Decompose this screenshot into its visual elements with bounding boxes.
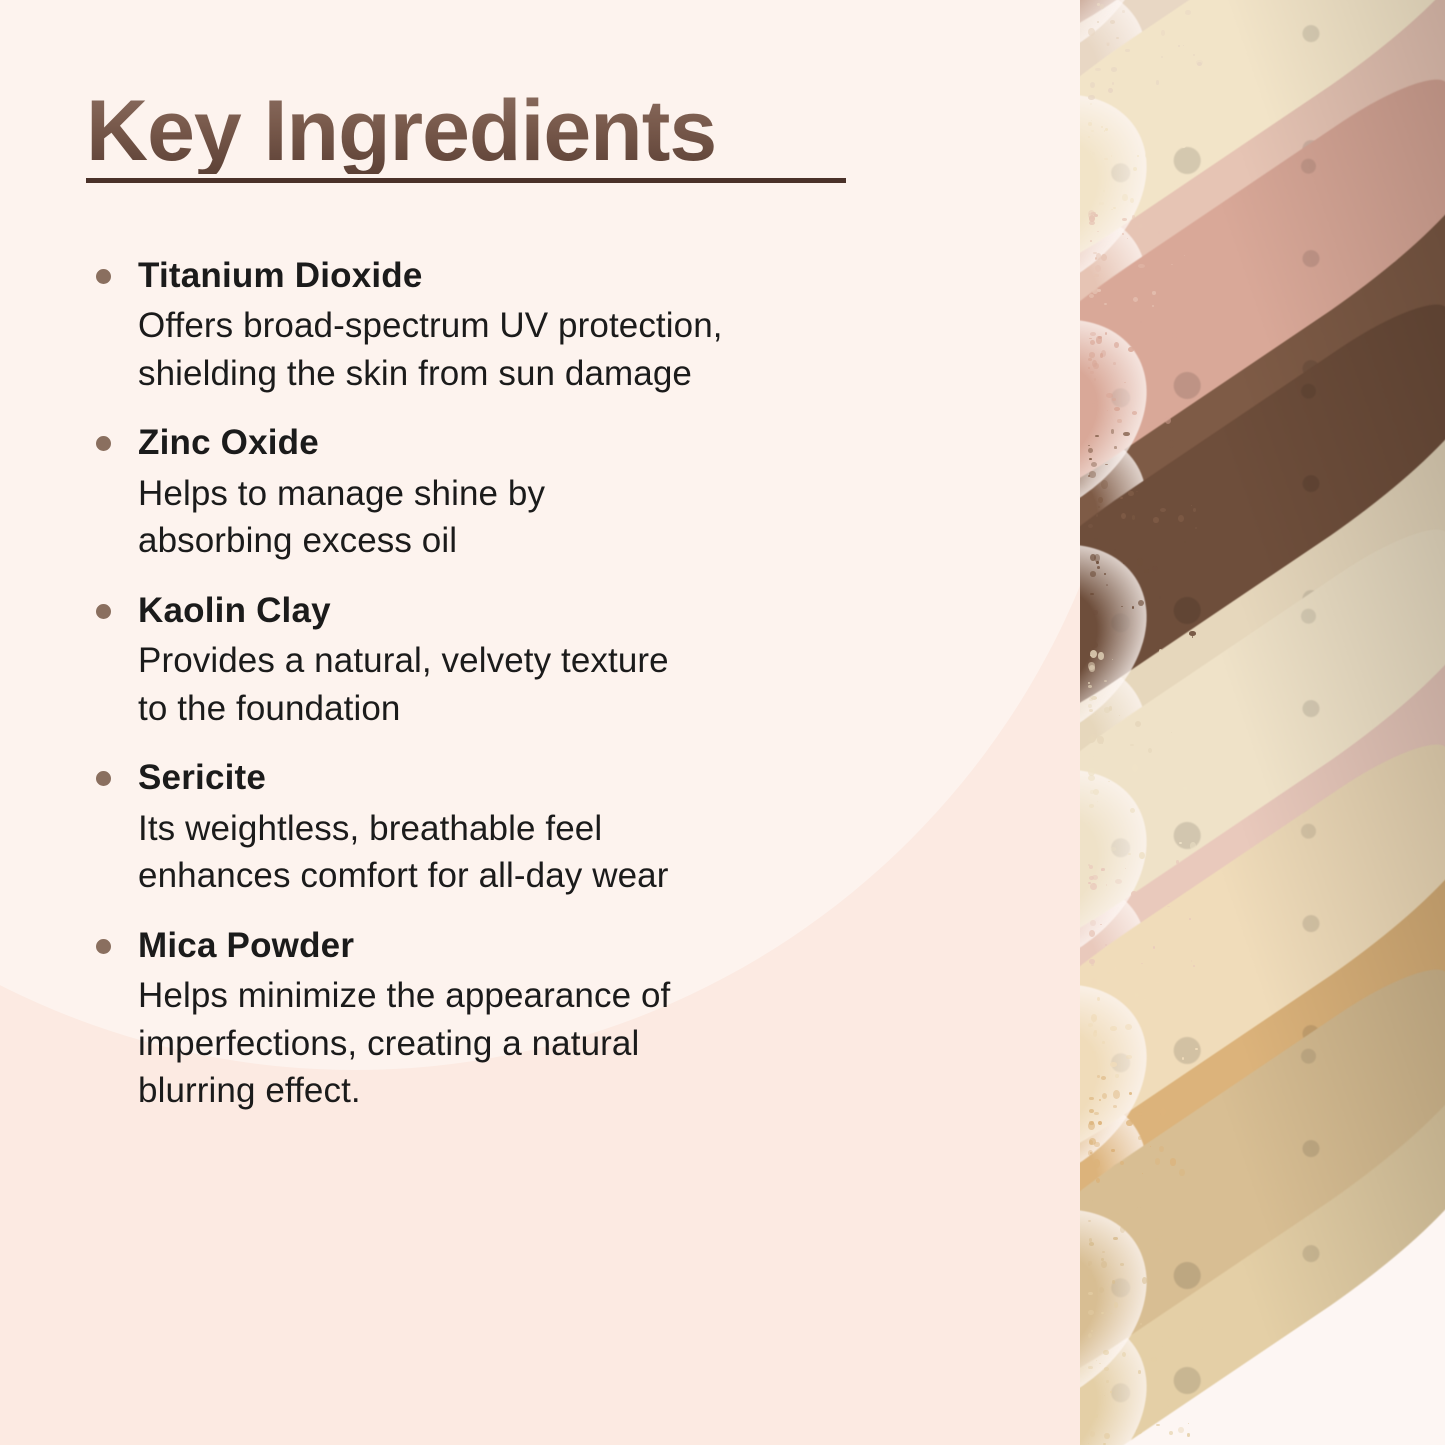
powder-crumb <box>1114 549 1116 550</box>
powder-crumb <box>1090 571 1096 576</box>
powder-crumb <box>1121 513 1126 519</box>
powder-crumb <box>1156 1424 1160 1427</box>
powder-crumb <box>1184 659 1189 662</box>
powder-crumb <box>1090 82 1095 88</box>
powder-crumb <box>1169 1431 1173 1435</box>
powder-crumb <box>1094 318 1096 320</box>
powder-crumb <box>1090 1431 1095 1437</box>
powder-crumb <box>1164 1313 1168 1316</box>
powder-crumb <box>1171 1006 1174 1010</box>
powder-crumb <box>1097 171 1099 172</box>
powder-crumb <box>1091 642 1098 648</box>
bullet-icon <box>96 771 111 786</box>
powder-crumb <box>1101 1258 1104 1261</box>
powder-crumb <box>1089 698 1094 701</box>
powder-crumb <box>1091 963 1093 966</box>
ingredient-description: Provides a natural, velvety texture to t… <box>138 637 1038 732</box>
powder-crumb <box>1170 1158 1177 1165</box>
powder-crumb <box>1170 1042 1173 1046</box>
powder-crumb <box>1172 332 1177 338</box>
powder-crumb <box>1126 1055 1131 1058</box>
powder-crumb <box>1189 631 1196 635</box>
powder-crumb <box>1128 491 1133 497</box>
powder-crumb <box>1154 1365 1156 1367</box>
powder-crumb <box>1088 1261 1092 1265</box>
powder-crumb <box>1193 965 1195 967</box>
powder-crumb <box>1132 411 1138 415</box>
ingredient-item: Zinc OxideHelps to manage shine by absor… <box>88 419 1038 564</box>
powder-crumb <box>1104 303 1106 305</box>
powder-crumb <box>1110 1062 1117 1067</box>
powder-crumb <box>1089 1238 1092 1242</box>
powder-crumb <box>1093 1022 1094 1023</box>
powder-crumb <box>1193 508 1196 512</box>
powder-crumb <box>1114 1302 1118 1307</box>
ingredient-description: Offers broad-spectrum UV protection, shi… <box>138 302 1038 397</box>
powder-crumb <box>1099 1363 1101 1364</box>
powder-crumb <box>1117 419 1122 424</box>
powder-crumb <box>1111 1149 1114 1152</box>
powder-crumb <box>1096 514 1098 517</box>
powder-crumb <box>1090 510 1093 514</box>
powder-crumb <box>1148 149 1152 151</box>
powder-crumb <box>1088 1023 1093 1027</box>
ingredient-name: Zinc Oxide <box>138 419 1038 467</box>
content-column: Key Ingredients Titanium DioxideOffers b… <box>0 0 1090 1445</box>
powder-crumb <box>1125 49 1129 52</box>
powder-crumb <box>1104 707 1110 713</box>
powder-crumb <box>1182 1396 1188 1401</box>
powder-crumb <box>1140 1323 1142 1325</box>
powder-crumb <box>1195 527 1197 529</box>
powder-crumb <box>1113 1105 1117 1108</box>
powder-crumb <box>1165 184 1170 187</box>
powder-crumb <box>1088 1443 1089 1444</box>
powder-crumb <box>1095 257 1097 260</box>
powder-crumb <box>1151 1357 1157 1362</box>
bullet-icon <box>96 269 111 284</box>
powder-crumb <box>1101 126 1103 128</box>
powder-crumb <box>1106 884 1108 886</box>
powder-crumb <box>1090 240 1092 242</box>
ingredient-name: Kaolin Clay <box>138 587 1038 635</box>
powder-crumb <box>1104 1367 1110 1371</box>
powder-crumb <box>1156 981 1159 984</box>
powder-crumb <box>1090 593 1093 595</box>
powder-crumb <box>1192 794 1198 801</box>
powder-crumb <box>1139 852 1145 859</box>
powder-crumb <box>1158 231 1160 233</box>
powder-crumb <box>1149 1324 1153 1327</box>
powder-crumb <box>1095 68 1101 71</box>
powder-crumb <box>1089 221 1095 225</box>
powder-crumb <box>1090 971 1093 975</box>
powder-crumb <box>1111 429 1114 433</box>
powder-crumb <box>1196 1322 1200 1327</box>
powder-crumb <box>1097 566 1100 569</box>
ingredient-item: SericiteIts weightless, breathable feel … <box>88 754 1038 899</box>
powder-crumb <box>1101 1312 1104 1314</box>
powder-crumb <box>1088 685 1092 688</box>
powder-crumb <box>1167 1399 1174 1407</box>
ingredient-name: Mica Powder <box>138 922 1038 970</box>
ingredient-description: Helps to manage shine by absorbing exces… <box>138 470 1038 565</box>
ingredient-description: Its weightless, breathable feel enhances… <box>138 805 1038 900</box>
powder-crumb <box>1090 883 1097 890</box>
powder-crumb <box>1156 172 1158 174</box>
powder-crumb <box>1112 82 1115 85</box>
powder-crumb <box>1091 1014 1097 1022</box>
powder-crumb <box>1131 891 1136 897</box>
powder-crumb <box>1111 847 1116 850</box>
powder-crumb <box>1165 417 1171 424</box>
powder-crumb <box>1089 1121 1093 1125</box>
powder-crumb <box>1101 1076 1106 1080</box>
powder-crumb <box>1186 1236 1189 1240</box>
powder-crumb <box>1105 539 1110 544</box>
powder-crumb <box>1088 448 1093 453</box>
powder-crumb <box>1159 1249 1163 1253</box>
powder-crumb <box>1089 352 1095 357</box>
powder-crumb <box>1088 682 1090 684</box>
powder-crumb <box>1089 865 1093 869</box>
powder-crumb <box>1157 1244 1160 1246</box>
powder-crumb <box>1120 1263 1124 1266</box>
powder-swatch-artwork <box>1080 0 1445 1445</box>
powder-crumb <box>1150 1056 1152 1058</box>
powder-crumb <box>1114 342 1119 348</box>
powder-crumb <box>1090 371 1095 374</box>
powder-crumb <box>1088 1421 1091 1424</box>
bullet-icon <box>96 939 111 954</box>
powder-crumb <box>1123 562 1125 564</box>
ingredient-item: Kaolin ClayProvides a natural, velvety t… <box>88 587 1038 732</box>
powder-crumb <box>1147 422 1154 427</box>
powder-crumb <box>1171 264 1172 265</box>
powder-crumb <box>1130 808 1135 813</box>
powder-crumb <box>1155 1158 1161 1164</box>
powder-crumb <box>1154 180 1155 181</box>
powder-crumb <box>1166 668 1167 669</box>
powder-crumb <box>1191 505 1192 506</box>
bullet-icon <box>96 604 111 619</box>
powder-crumb <box>1136 1429 1141 1434</box>
powder-crumb <box>1096 336 1101 343</box>
page-title-block: Key Ingredients <box>86 88 846 183</box>
powder-crumb <box>1113 1090 1120 1098</box>
powder-crumb <box>1192 636 1193 638</box>
powder-crumb <box>1102 1041 1105 1044</box>
powder-crumb <box>1108 781 1109 782</box>
powder-crumb <box>1138 1331 1145 1336</box>
powder-crumb <box>1114 446 1116 449</box>
powder-crumb <box>1105 128 1108 131</box>
powder-crumb <box>1177 174 1182 181</box>
powder-crumb <box>1138 1370 1141 1373</box>
powder-crumb <box>1110 1026 1117 1030</box>
powder-crumb <box>1101 254 1107 261</box>
powder-crumb <box>1100 1213 1101 1214</box>
powder-crumb <box>1094 1030 1098 1032</box>
powder-crumb <box>1183 786 1187 791</box>
powder-crumb <box>1144 1024 1150 1030</box>
powder-crumb <box>1104 573 1106 574</box>
powder-crumb <box>1137 155 1139 157</box>
powder-crumb <box>1196 60 1202 65</box>
powder-crumb <box>1195 1333 1200 1338</box>
powder-crumb <box>1133 167 1137 171</box>
ingredient-item: Mica PowderHelps minimize the appearance… <box>88 922 1038 1115</box>
powder-crumb <box>1113 207 1115 209</box>
powder-crumb <box>1090 920 1095 926</box>
powder-crumb <box>1103 1350 1109 1356</box>
powder-crumb <box>1088 122 1092 126</box>
page-title: Key Ingredients <box>86 88 846 174</box>
powder-crumb <box>1130 198 1134 203</box>
powder-crumb <box>1113 1237 1117 1240</box>
powder-crumb <box>1090 1152 1093 1154</box>
powder-crumb <box>1187 1433 1191 1437</box>
ingredient-item: Titanium DioxideOffers broad-spectrum UV… <box>88 252 1038 397</box>
powder-crumb <box>1148 748 1152 753</box>
ingredient-description: Helps minimize the appearance of imperfe… <box>138 972 1038 1115</box>
powder-crumb <box>1090 340 1095 345</box>
powder-crumb <box>1100 353 1103 358</box>
powder-crumb <box>1128 853 1131 855</box>
powder-crumb <box>1092 1051 1095 1054</box>
powder-crumb <box>1104 1433 1110 1440</box>
powder-crumb <box>1106 1380 1109 1383</box>
powder-crumb <box>1142 1277 1147 1284</box>
powder-crumb <box>1089 423 1091 424</box>
powder-crumb <box>1178 45 1180 46</box>
powder-crumb <box>1093 977 1097 980</box>
powder-crumb <box>1090 392 1097 401</box>
powder-crumb <box>1188 1423 1189 1425</box>
powder-crumb <box>1130 744 1134 746</box>
powder-crumb <box>1095 756 1102 761</box>
powder-crumb <box>1198 1327 1203 1330</box>
powder-crumb <box>1122 233 1124 234</box>
powder-crumb <box>1135 681 1139 684</box>
powder-crumb <box>1106 1212 1110 1215</box>
powder-crumb <box>1090 650 1097 658</box>
powder-crumb <box>1119 977 1122 981</box>
powder-crumb <box>1132 515 1135 519</box>
powder-crumb <box>1097 21 1099 23</box>
powder-crumb <box>1107 972 1110 974</box>
powder-crumb <box>1190 842 1196 849</box>
powder-crumb <box>1102 1251 1106 1253</box>
powder-crumb <box>1138 600 1144 606</box>
powder-crumb <box>1089 279 1093 284</box>
ingredient-name: Sericite <box>138 754 1038 802</box>
powder-crumb <box>1088 704 1092 708</box>
powder-crumb <box>1088 1333 1092 1338</box>
powder-crumb <box>1088 500 1095 504</box>
powder-crumb <box>1111 67 1117 71</box>
powder-crumb <box>1144 998 1146 1000</box>
powder-crumb <box>1094 274 1099 277</box>
powder-crumb <box>1088 662 1095 669</box>
powder-crumb <box>1100 4 1104 8</box>
powder-crumb <box>1089 1415 1090 1416</box>
powder-crumb <box>1179 1194 1184 1197</box>
powder-crumb <box>1100 547 1102 549</box>
powder-crumb <box>1106 393 1113 398</box>
powder-crumb <box>1108 88 1113 94</box>
product-ingredient-infographic: Key Ingredients Titanium DioxideOffers b… <box>0 0 1445 1445</box>
powder-crumb <box>1193 54 1194 55</box>
powder-crumb <box>1088 136 1090 138</box>
powder-crumb <box>1092 360 1097 367</box>
powder-crumb <box>1088 775 1095 781</box>
powder-crumb <box>1136 1207 1141 1213</box>
powder-crumb <box>1091 120 1092 121</box>
powder-crumb <box>1090 655 1092 656</box>
powder-crumb <box>1097 3 1100 7</box>
powder-crumb <box>1088 1366 1093 1369</box>
powder-crumb <box>1110 20 1115 24</box>
powder-crumb <box>1134 993 1139 997</box>
powder-crumb <box>1110 1391 1112 1393</box>
powder-crumb <box>1089 930 1096 937</box>
powder-crumb <box>1088 367 1090 369</box>
powder-crumb <box>1098 652 1103 659</box>
powder-crumb <box>1153 517 1159 523</box>
powder-crumb <box>1089 471 1096 477</box>
powder-crumb <box>1098 497 1102 503</box>
powder-crumb <box>1090 332 1096 336</box>
powder-crumb <box>1152 566 1158 572</box>
powder-crumb <box>1088 1220 1091 1222</box>
ingredient-list: Titanium DioxideOffers broad-spectrum UV… <box>88 252 1038 1137</box>
powder-crumb <box>1106 584 1108 586</box>
powder-crumb <box>1152 291 1156 294</box>
powder-crumb <box>1142 1173 1143 1174</box>
powder-crumb <box>1125 868 1126 869</box>
bullet-icon <box>96 436 111 451</box>
powder-crumb <box>1127 238 1128 239</box>
powder-crumb <box>1093 610 1098 615</box>
powder-crumb <box>1094 554 1100 562</box>
powder-crumb <box>1163 113 1168 119</box>
powder-crumb <box>1128 347 1133 352</box>
powder-crumb <box>1089 804 1093 808</box>
powder-crumb <box>1160 1108 1166 1115</box>
powder-crumb <box>1178 1427 1183 1433</box>
powder-crumb <box>1125 1024 1132 1030</box>
powder-crumb <box>1090 728 1097 734</box>
powder-crumb <box>1093 1414 1098 1418</box>
powder-crumb <box>1169 440 1175 447</box>
powder-crumb <box>1164 194 1166 196</box>
powder-crumb <box>1157 1229 1163 1237</box>
powder-crumb <box>1104 158 1108 160</box>
powder-crumb <box>1185 10 1191 15</box>
powder-crumb <box>1122 194 1127 201</box>
powder-crumb <box>1099 1099 1101 1102</box>
powder-crumb <box>1093 1278 1097 1282</box>
powder-crumb <box>1137 325 1143 329</box>
powder-crumb <box>1162 1346 1163 1348</box>
ingredient-name: Titanium Dioxide <box>138 252 1038 300</box>
powder-crumb <box>1089 756 1093 760</box>
powder-crumb <box>1088 946 1089 947</box>
